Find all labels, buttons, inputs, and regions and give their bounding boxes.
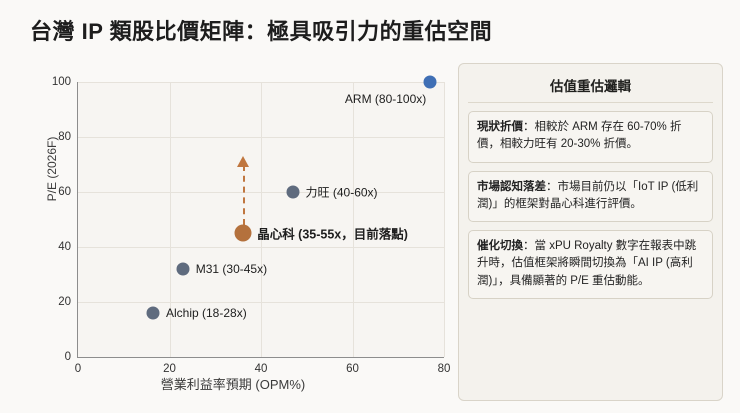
data-point[interactable] <box>234 225 251 242</box>
data-point[interactable] <box>424 76 437 89</box>
data-point[interactable] <box>177 263 190 276</box>
plot-area: 020406080100020406080ARM (80-100x)力旺 (40… <box>77 82 444 358</box>
panel-title: 估值重估邏輯 <box>468 72 713 103</box>
panel-card-heading: 催化切換 <box>477 240 523 252</box>
y-axis-tick: 100 <box>52 76 71 88</box>
data-point-label: 晶心科 (35-55x，目前落點) <box>257 224 408 243</box>
y-axis-tick: 60 <box>58 186 71 198</box>
y-axis-tick: 20 <box>58 296 71 308</box>
panel-card: 現狀折價：相較於 ARM 存在 60-70% 折價，相較力旺有 20-30% 折… <box>468 111 713 163</box>
x-axis-tick: 80 <box>438 363 451 375</box>
y-axis-tick: 0 <box>65 351 71 363</box>
y-axis-tick: 80 <box>58 131 71 143</box>
y-axis-label: P/E (2026F) <box>45 109 59 229</box>
panel-card-heading: 市場認知落差 <box>477 181 546 193</box>
y-axis-tick: 40 <box>58 241 71 253</box>
x-axis-tick: 0 <box>75 363 81 375</box>
gridline-vertical <box>261 82 262 357</box>
gridline-vertical <box>353 82 354 357</box>
x-axis-tick: 60 <box>346 363 359 375</box>
valuation-logic-panel: 估值重估邏輯 現狀折價：相較於 ARM 存在 60-70% 折價，相較力旺有 2… <box>458 63 723 401</box>
rerating-arrow-head <box>237 156 249 167</box>
data-point-label: ARM (80-100x) <box>345 92 426 106</box>
slide-root: 台灣 IP 類股比價矩陣：極具吸引力的重估空間 P/E (2026F) 營業利益… <box>0 0 740 413</box>
data-point[interactable] <box>147 307 160 320</box>
panel-card: 市場認知落差：市場目前仍以「IoT IP (低利潤)」的框架對晶心科進行評價。 <box>468 171 713 223</box>
gridline-vertical <box>444 82 445 357</box>
panel-card-list: 現狀折價：相較於 ARM 存在 60-70% 折價，相較力旺有 20-30% 折… <box>468 111 713 299</box>
data-point-label: M31 (30-45x) <box>196 262 267 276</box>
panel-card: 催化切換：當 xPU Royalty 數字在報表中跳升時，估值框架將瞬間切換為「… <box>468 230 713 299</box>
scatter-chart: P/E (2026F) 營業利益率預期 (OPM%) 0204060801000… <box>18 58 448 403</box>
rerating-arrow-shaft <box>243 165 245 225</box>
page-title: 台灣 IP 類股比價矩陣：極具吸引力的重估空間 <box>30 14 492 46</box>
data-point-label: Alchip (18-28x) <box>166 306 247 320</box>
data-point-label: 力旺 (40-60x) <box>306 184 378 201</box>
x-axis-tick: 20 <box>163 363 176 375</box>
panel-card-heading: 現狀折價 <box>477 121 523 133</box>
x-axis-tick: 40 <box>255 363 268 375</box>
data-point[interactable] <box>287 186 300 199</box>
x-axis-label: 營業利益率預期 (OPM%) <box>18 374 448 393</box>
